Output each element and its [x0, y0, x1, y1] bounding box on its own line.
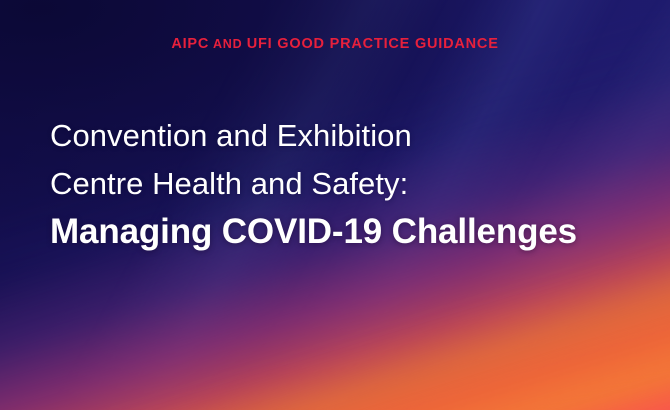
title-line-3: Managing COVID-19 Challenges — [50, 208, 577, 256]
eyebrow-part-aipc: AIPC — [171, 36, 209, 52]
cover-content: AIPC AND UFI GOOD PRACTICE GUIDANCE Conv… — [0, 0, 670, 410]
page-title: Convention and Exhibition Centre Health … — [50, 112, 577, 256]
title-line-1: Convention and Exhibition — [50, 112, 577, 160]
eyebrow-part-rest: UFI GOOD PRACTICE GUIDANCE — [247, 36, 499, 52]
eyebrow-label: AIPC AND UFI GOOD PRACTICE GUIDANCE — [0, 36, 670, 52]
cover-banner: AIPC AND UFI GOOD PRACTICE GUIDANCE Conv… — [0, 0, 670, 410]
title-line-2: Centre Health and Safety: — [50, 160, 577, 208]
eyebrow-part-and: AND — [209, 37, 247, 51]
